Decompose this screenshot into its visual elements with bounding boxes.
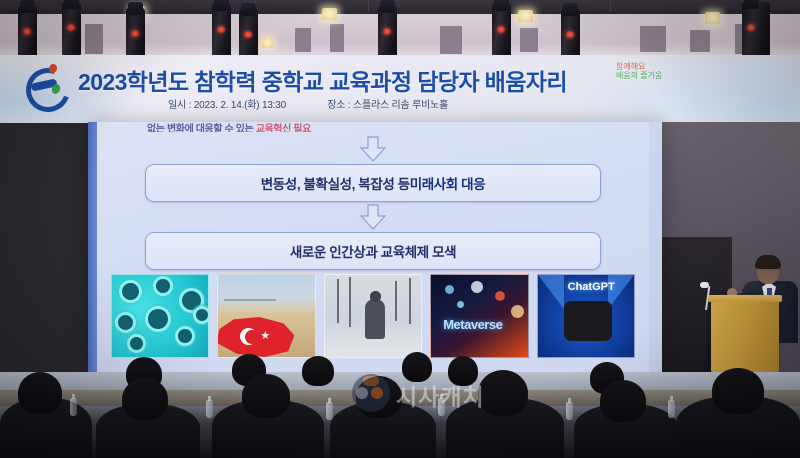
banner-decoration: 함께해요 배움의 즐거움 bbox=[616, 62, 682, 96]
wooden-podium bbox=[711, 300, 779, 372]
water-bottle bbox=[70, 398, 77, 416]
ceiling-lamp bbox=[262, 38, 273, 48]
audience-head bbox=[18, 372, 62, 414]
ceiling-truss-band bbox=[0, 0, 800, 14]
stage-spotlight bbox=[212, 4, 231, 60]
audience-head bbox=[122, 378, 168, 420]
audience-head bbox=[242, 374, 290, 418]
audience-head bbox=[712, 368, 764, 414]
slide-box1-highlight: 미래사회 대응 bbox=[410, 173, 485, 193]
down-arrow-icon bbox=[358, 204, 388, 230]
slide-box-new-education: 새로운 인간상과 교육체제 모색 bbox=[145, 232, 601, 270]
water-bottle bbox=[566, 402, 573, 420]
banner-datetime: 일시 : 2023. 2. 14.(화) 13:30 bbox=[168, 100, 286, 111]
light-cable bbox=[255, 0, 282, 12]
ceiling-lamp bbox=[518, 10, 533, 22]
metaverse-image: Metaverse bbox=[430, 274, 528, 358]
presenter-hair bbox=[755, 255, 781, 269]
banner-place: 장소 : 스플라스 리솜 루비노홀 bbox=[327, 100, 448, 111]
light-cable bbox=[610, 0, 631, 12]
slide-cutoff-text: 없는 변화에 대응할 수 있는 교육혁신 필요 bbox=[147, 122, 547, 132]
stage-spotlight bbox=[378, 6, 397, 62]
audience-head bbox=[302, 356, 334, 386]
virus-covid-image bbox=[111, 274, 209, 358]
ceiling-lamp bbox=[705, 12, 720, 24]
e-swirl-logo bbox=[22, 62, 68, 108]
conference-photo: 2023학년도 참학력 중학교 교육과정 담당자 배움자리 일시 : 2023.… bbox=[0, 0, 800, 458]
watermark: 시사캐치 bbox=[352, 372, 532, 414]
down-arrow-icon bbox=[358, 136, 388, 162]
ceiling-area bbox=[0, 0, 800, 62]
water-bottle bbox=[668, 400, 675, 418]
slide-box2-text: 새로운 인간상과 교육체제 모색 bbox=[290, 241, 456, 261]
banner-title: 2023학년도 참학력 중학교 교육과정 담당자 배움자리 bbox=[78, 63, 567, 97]
watermark-text: 시사캐치 bbox=[396, 378, 485, 412]
metaverse-label: Metaverse bbox=[443, 317, 502, 332]
water-bottle bbox=[326, 402, 333, 420]
stage-spotlight bbox=[18, 6, 37, 62]
banner-decoration-line1: 함께해요 bbox=[616, 62, 645, 71]
slide-thumbnail-row: ★ Metaverse bbox=[111, 274, 635, 356]
ceiling-lamp bbox=[322, 8, 337, 20]
banner-decoration-line2: 배움의 즐거움 bbox=[616, 71, 662, 80]
turkey-earthquake-image: ★ bbox=[217, 274, 315, 358]
audience-head bbox=[600, 380, 646, 422]
stage-spotlight bbox=[492, 4, 511, 60]
screen-left-border bbox=[88, 122, 97, 372]
presentation-slide: 없는 변화에 대응할 수 있는 교육혁신 필요 변동성, 불확실성, 복잡성 등… bbox=[97, 122, 649, 372]
banner-subtitle: 일시 : 2023. 2. 14.(화) 13:30 장소 : 스플라스 리솜 … bbox=[168, 96, 448, 111]
winter-snow-image bbox=[324, 274, 422, 358]
projection-screen: 없는 변화에 대응할 수 있는 교육혁신 필요 변동성, 불확실성, 복잡성 등… bbox=[88, 122, 662, 372]
sisacatch-logo bbox=[352, 374, 390, 412]
water-bottle bbox=[206, 400, 213, 418]
stage-spotlight bbox=[62, 2, 81, 58]
slide-box-future-society: 변동성, 불확실성, 복잡성 등 미래사회 대응 bbox=[145, 164, 601, 202]
chatgpt-image: ChatGPT bbox=[537, 274, 635, 358]
chatgpt-label: ChatGPT bbox=[568, 281, 615, 293]
slide-box1-text: 변동성, 불확실성, 복잡성 등 bbox=[261, 173, 410, 193]
